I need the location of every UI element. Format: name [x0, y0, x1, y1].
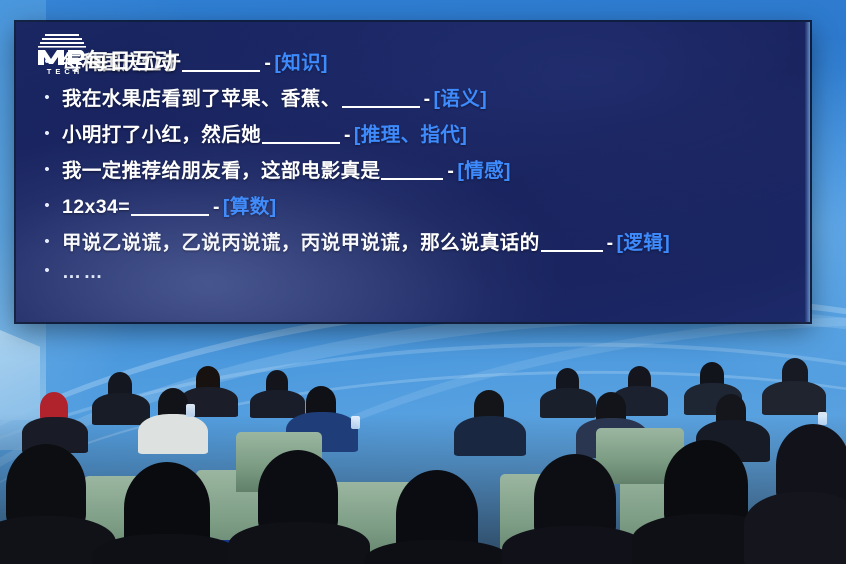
- presentation-photo: • 每种国庆位于-[知识] • 我在水果店看到了苹果、香蕉、-[语义] • 小明…: [0, 0, 846, 564]
- bullet-dash: -: [341, 124, 354, 146]
- audience-shoulders: [250, 390, 305, 418]
- phone-screen: [351, 416, 360, 429]
- bullet-statement: 甲说乙说谎，乙说丙说谎，丙说甲说谎，那么说真话的: [62, 232, 540, 254]
- bullet-marker-icon: •: [32, 126, 62, 141]
- slide-title: 每日互动: [86, 44, 178, 76]
- bullet-dash: -: [421, 88, 434, 110]
- slide-bullet-row: • 12x34=-[算数]: [32, 190, 796, 219]
- phone-screen: [818, 412, 827, 425]
- phone-screen: [186, 404, 195, 417]
- bullet-dash: -: [210, 196, 223, 218]
- audience-shoulders: [762, 381, 826, 415]
- slide-bullet-text: 我在水果店看到了苹果、香蕉、-[语义]: [62, 82, 487, 111]
- slide-bullet-row: • ……: [32, 262, 796, 291]
- slide-bullet-text: 12x34=-[算数]: [62, 190, 277, 219]
- bullet-marker-icon: •: [32, 90, 62, 105]
- fill-in-blank: [131, 214, 209, 216]
- slide-bullet-text: 我一定推荐给朋友看，这部电影真是-[情感]: [62, 154, 511, 183]
- bullet-category-tag: [情感]: [457, 160, 511, 182]
- bullet-category-tag: [逻辑]: [617, 232, 671, 254]
- bullet-marker-icon: •: [32, 263, 62, 278]
- audience-shoulders: [228, 522, 370, 564]
- bullet-category-tag: [语义]: [434, 88, 488, 110]
- slide-bullet-row: • 我在水果店看到了苹果、香蕉、-[语义]: [32, 82, 796, 111]
- bullet-dash: -: [261, 52, 274, 74]
- slide-bullet-text: 甲说乙说谎，乙说丙说谎，丙说甲说谎，那么说真话的-[逻辑]: [62, 226, 670, 255]
- fill-in-blank: [342, 106, 420, 108]
- audience-shoulders: [502, 526, 648, 564]
- audience-shoulders: [454, 416, 526, 456]
- audience-shoulders: [92, 393, 150, 425]
- slide-bullet-row: • 甲说乙说谎，乙说丙说谎，丙说甲说谎，那么说真话的-[逻辑]: [32, 226, 796, 255]
- fill-in-blank: [262, 142, 340, 144]
- audience-shoulders: [744, 492, 846, 564]
- slide-bullet-row: • 我一定推荐给朋友看，这部电影真是-[情感]: [32, 154, 796, 183]
- bullet-dash: -: [444, 160, 457, 182]
- bullet-marker-icon: •: [32, 234, 62, 249]
- audience-shoulders: [540, 388, 596, 418]
- slide-bullet-ellipsis: ……: [62, 262, 105, 284]
- fill-in-blank: [182, 70, 260, 72]
- bullet-marker-icon: •: [32, 54, 62, 69]
- bullet-statement: 我在水果店看到了苹果、香蕉、: [62, 88, 341, 110]
- bullet-dash: -: [604, 232, 617, 254]
- bullet-marker-icon: •: [32, 198, 62, 213]
- slide-bullet-text: 小明打了小红，然后她-[推理、指代]: [62, 118, 467, 147]
- bullet-statement: 我一定推荐给朋友看，这部电影真是: [62, 160, 380, 182]
- audience-shoulders: [138, 414, 208, 454]
- bullet-category-tag: [算数]: [223, 196, 277, 218]
- bullet-statement: 12x34=: [62, 196, 130, 218]
- fill-in-blank: [541, 250, 603, 252]
- bullet-category-tag: [知识]: [274, 52, 328, 74]
- audience-shoulders: [92, 534, 242, 564]
- bullet-statement: 小明打了小红，然后她: [62, 124, 261, 146]
- presentation-slide-screen: • 每种国庆位于-[知识] • 我在水果店看到了苹果、香蕉、-[语义] • 小明…: [16, 22, 810, 322]
- slide-bullet-row: • 小明打了小红，然后她-[推理、指代]: [32, 118, 796, 147]
- fill-in-blank: [381, 178, 443, 180]
- bullet-category-tag: [推理、指代]: [354, 124, 467, 146]
- bullet-marker-icon: •: [32, 162, 62, 177]
